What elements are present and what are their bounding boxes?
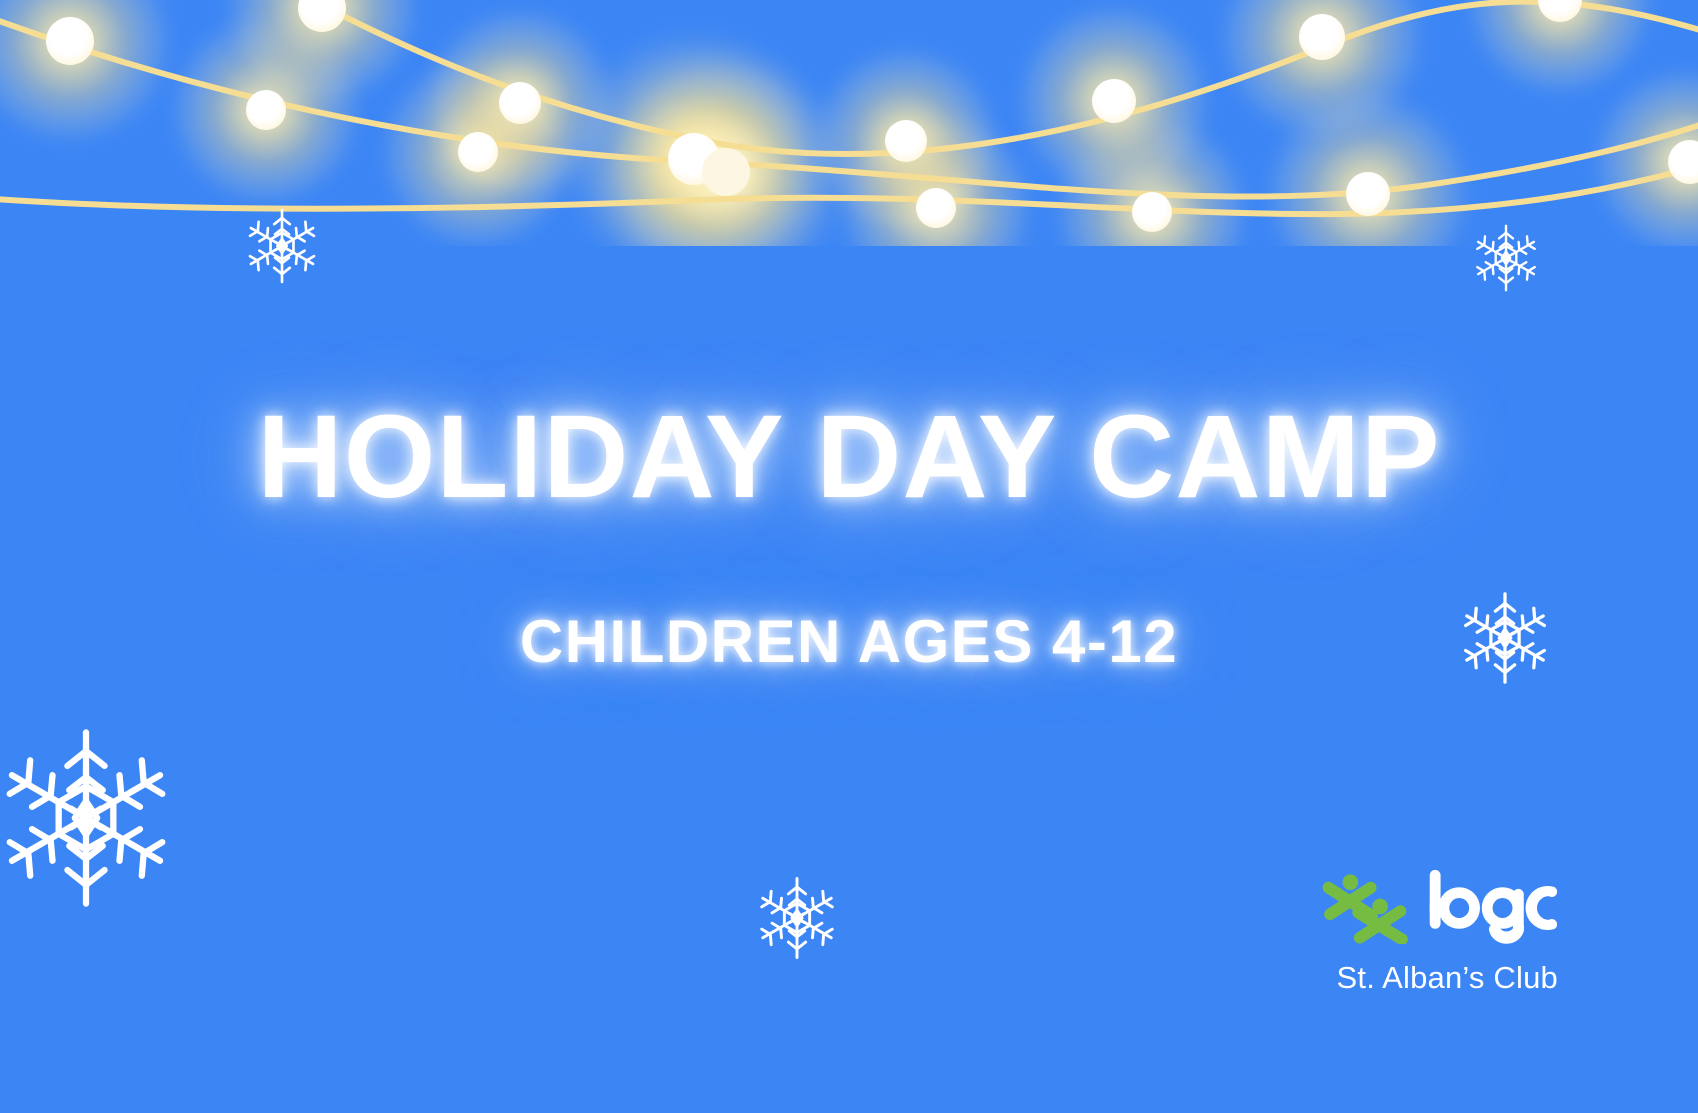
snowflake-bottom-center <box>754 875 840 961</box>
page-subtitle: CHILDREN AGES 4-12 <box>520 612 1178 672</box>
snowflake-right-mid <box>1457 590 1553 686</box>
snowflake-top-left <box>243 207 321 285</box>
subhead-container: CHILDREN AGES 4-12 <box>0 612 1698 672</box>
snowflake-bottom-left <box>0 725 179 911</box>
bgc-wordmark <box>1428 867 1558 949</box>
bgc-people-mark-icon <box>1318 872 1414 944</box>
bgc-logo: bgc St. Alban’s Club <box>1318 862 1558 996</box>
club-name: St. Alban’s Club <box>1318 960 1558 996</box>
logo-row: bgc <box>1318 862 1558 954</box>
page-title: HOLIDAY DAY CAMP <box>257 398 1440 516</box>
headline-container: HOLIDAY DAY CAMP <box>0 398 1698 516</box>
holiday-day-camp-poster: HOLIDAY DAY CAMP CHILDREN AGES 4-12 <box>0 0 1698 1113</box>
snowflake-top-right <box>1471 223 1541 293</box>
